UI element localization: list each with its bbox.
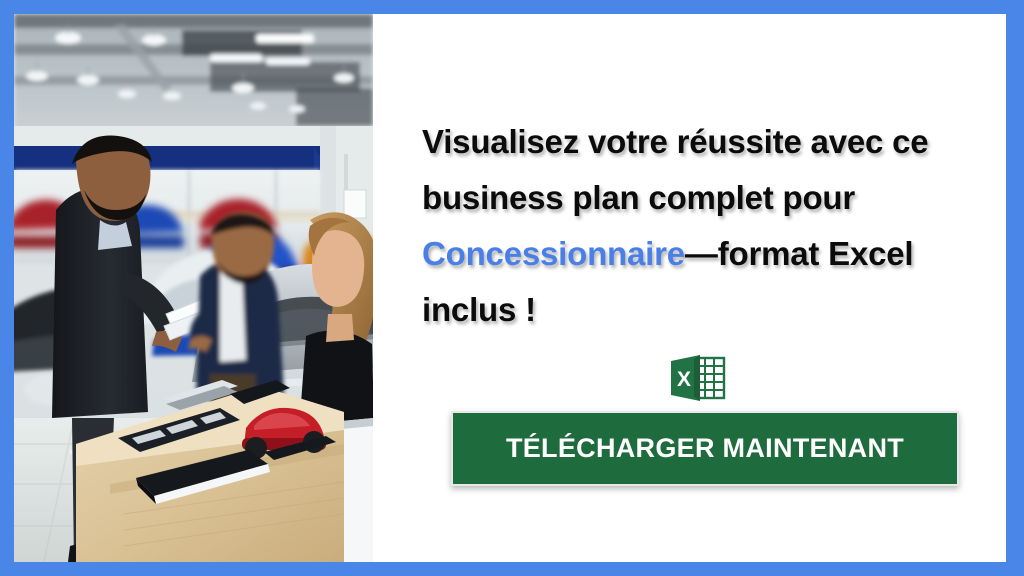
ad-outer-frame: Visualisez votre réussite avec ce busine… bbox=[0, 0, 1024, 576]
excel-file-icon: X bbox=[669, 353, 727, 403]
page-title: Visualisez votre réussite avec ce busine… bbox=[422, 114, 958, 338]
download-now-label: TÉLÉCHARGER MAINTENANT bbox=[506, 433, 904, 464]
ad-content-panel: Visualisez votre réussite avec ce busine… bbox=[373, 14, 1006, 562]
car-dealership-showroom-photo bbox=[14, 14, 373, 562]
svg-text:X: X bbox=[677, 368, 691, 391]
download-now-button[interactable]: TÉLÉCHARGER MAINTENANT bbox=[451, 411, 959, 486]
headline-highlight: Concessionnaire bbox=[422, 235, 685, 272]
headline-part-1: Visualisez votre réussite avec ce busine… bbox=[422, 123, 928, 216]
ad-inner-canvas: Visualisez votre réussite avec ce busine… bbox=[14, 14, 1006, 562]
